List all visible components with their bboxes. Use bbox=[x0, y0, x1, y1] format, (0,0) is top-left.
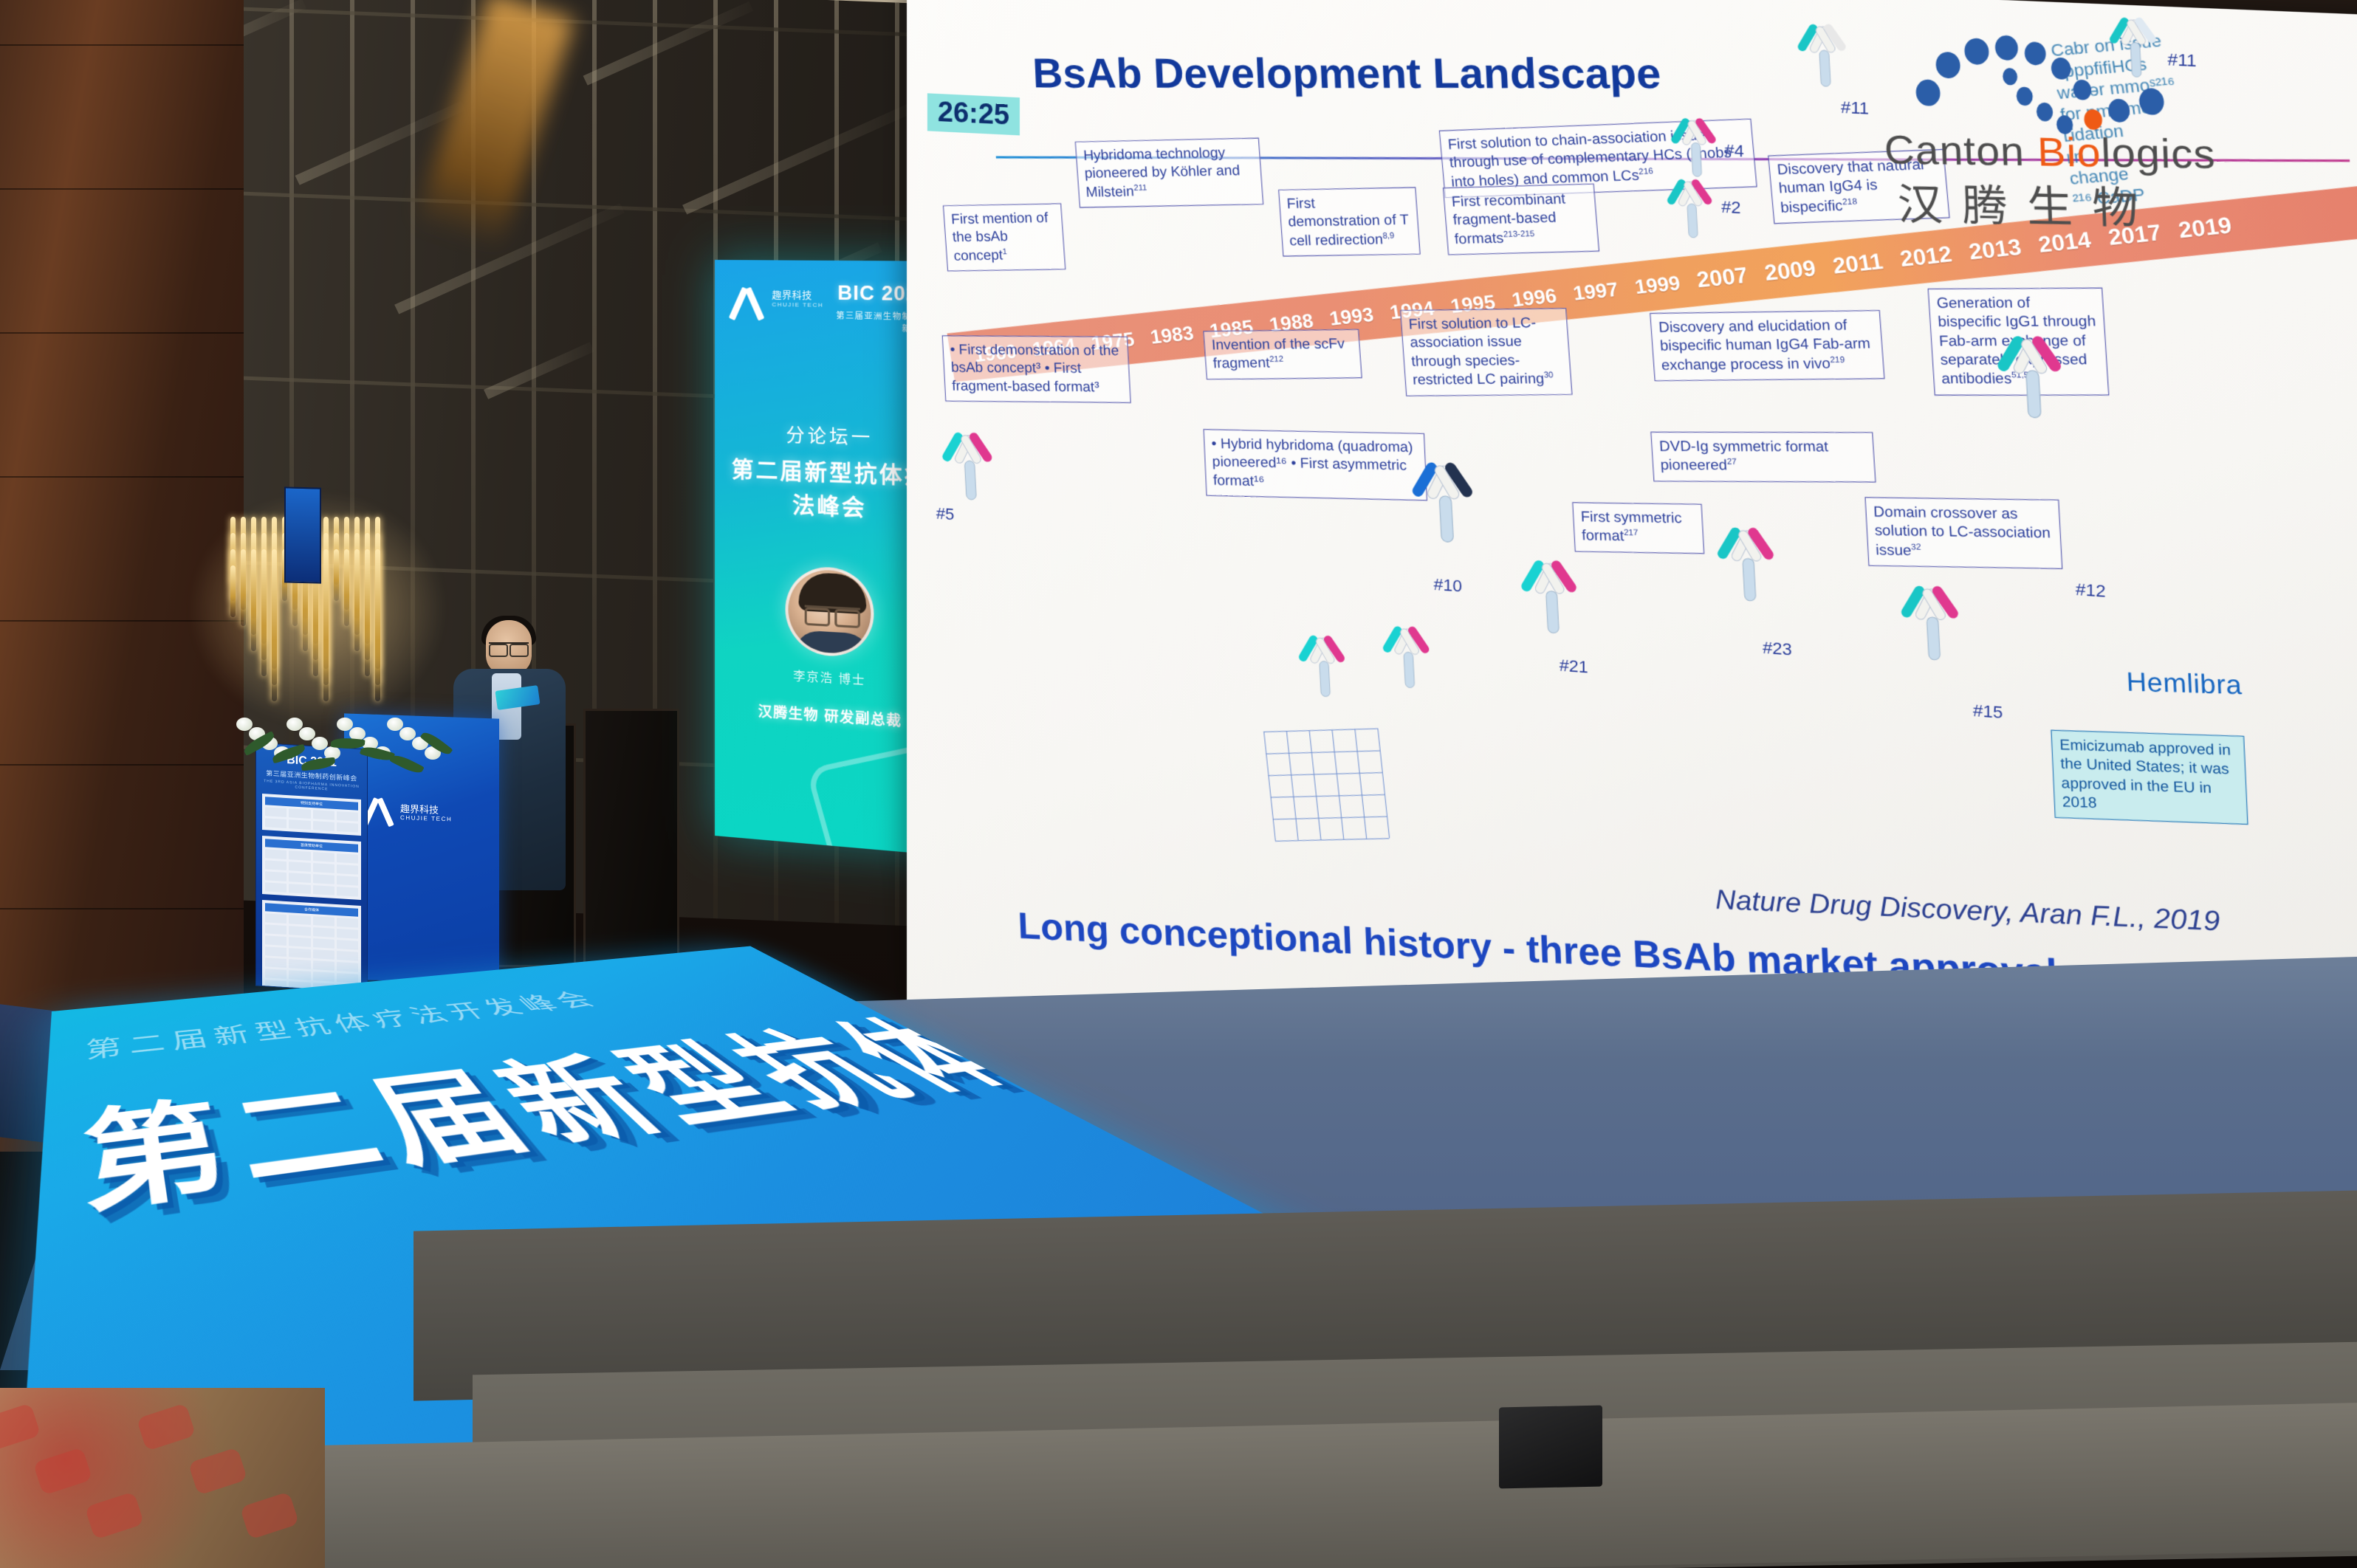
wall-panel-seam bbox=[0, 476, 244, 478]
chujie-logo-icon bbox=[731, 286, 765, 321]
floor-monitor-box bbox=[1499, 1406, 1602, 1489]
slide-box-emicizumab: Emicizumab approved in the United States… bbox=[2051, 730, 2248, 825]
slide-box-first-symmetric: First symmetric format217 bbox=[1572, 502, 1704, 554]
slide-box-first-mention: First mention of the bsAb concept1 bbox=[943, 203, 1066, 271]
chandelier-crystal bbox=[241, 549, 246, 626]
avatar-shirt bbox=[795, 630, 871, 659]
presenter-glasses-icon bbox=[489, 642, 529, 654]
hemlibra-label: Hemlibra bbox=[2126, 667, 2243, 701]
sponsor-logo bbox=[265, 957, 287, 968]
sponsor-logo bbox=[313, 885, 334, 895]
forum-line-1: 分论坛一 bbox=[731, 421, 931, 455]
sponsor-logo bbox=[289, 959, 310, 969]
antibody-label-10: #10 bbox=[1434, 575, 1462, 596]
signboard-logo-grid-3 bbox=[265, 913, 358, 992]
slide-box-fab-arm-discovery: Discovery and elucidation of bispecific … bbox=[1650, 310, 1884, 381]
banner-forum-title: 分论坛一 第二届新型抗体疗法峰会 bbox=[731, 421, 931, 528]
logo-dot-accent bbox=[2084, 109, 2102, 130]
slide-box-hybridoma: Hybridoma technology pioneered by Köhler… bbox=[1075, 138, 1263, 208]
wall-panel-seam bbox=[0, 44, 244, 46]
carpet-motif bbox=[0, 1403, 41, 1451]
sponsor-logo bbox=[289, 915, 310, 925]
banner-org-logo-text: 趣界科技 CHUJIE TECH bbox=[772, 290, 823, 309]
sponsor-logo bbox=[289, 884, 310, 894]
grid-line-vertical bbox=[1354, 729, 1367, 839]
chandelier-crystal bbox=[375, 549, 380, 701]
conference-stage-photo: 趣界科技 CHUJIE TECH BIC 2021 第三届亚洲生物制药创新峰会 … bbox=[0, 0, 2357, 1568]
timeline-year-2007: 2007 bbox=[1695, 263, 1750, 293]
canton-word: Canton bbox=[1884, 128, 2038, 175]
sponsor-logo bbox=[337, 822, 358, 833]
logo-dot bbox=[2016, 87, 2033, 106]
signboard-logo-grid-2 bbox=[265, 849, 358, 896]
sponsor-logo bbox=[313, 960, 334, 971]
wall-panel-seam bbox=[0, 188, 244, 190]
sponsor-logo bbox=[313, 821, 334, 831]
slide-citation: Nature Drug Discovery, Aran F.L., 2019 bbox=[1715, 883, 2220, 938]
background-door-right bbox=[583, 709, 679, 974]
sponsor-logo bbox=[313, 916, 334, 926]
sponsor-logo bbox=[337, 962, 358, 972]
chandelier-crystal bbox=[365, 549, 370, 676]
sponsor-logo bbox=[313, 852, 334, 862]
logo-dot bbox=[1964, 38, 1989, 65]
canton-logo-chinese: 汉腾生物 bbox=[1896, 170, 2159, 237]
sponsor-logo bbox=[313, 863, 334, 873]
signboard-sponsor-panel-3: 合作媒体 bbox=[262, 900, 361, 992]
antibody-label-11b: #11 bbox=[1841, 97, 1869, 119]
chandelier-crystal bbox=[230, 565, 236, 617]
chandelier-crystal bbox=[261, 549, 267, 676]
signboard-sponsor-panel-2: 首席赞助单位 bbox=[262, 836, 361, 900]
carpet-motif bbox=[33, 1447, 93, 1495]
side-display-screen bbox=[284, 486, 321, 583]
sponsor-logo bbox=[337, 940, 358, 950]
sponsor-logo bbox=[337, 951, 358, 961]
logo-dot bbox=[2051, 58, 2071, 80]
antibody-label-5: #5 bbox=[936, 504, 954, 525]
slide-box-bsab-demonstration: • First demonstration of the bsAb concep… bbox=[942, 335, 1131, 402]
slide-box-dvd-ig: DVD-Ig symmetric format pioneered27 bbox=[1650, 432, 1876, 483]
banner-speaker-name: 李京浩 博士 bbox=[731, 661, 931, 692]
sponsor-logo bbox=[337, 853, 358, 864]
grid-line-horizontal bbox=[1266, 750, 1379, 754]
timeline-year-2013: 2013 bbox=[1967, 235, 2023, 266]
sponsor-signboard: BIC 2021 第三届亚洲生物制药创新峰会 THE 3RD ASIA BIOP… bbox=[255, 742, 368, 992]
signboard-sponsor-panel-1: 特别支持单位 bbox=[262, 794, 361, 836]
timeline-year-1993: 1993 bbox=[1328, 303, 1375, 331]
sponsor-logo bbox=[313, 949, 334, 960]
sponsor-logo bbox=[313, 972, 334, 982]
sponsor-logo bbox=[289, 937, 310, 947]
sponsor-logo bbox=[289, 948, 310, 958]
speaker-avatar bbox=[785, 565, 874, 658]
banner-org-en: CHUJIE TECH bbox=[772, 301, 823, 309]
sponsor-logo bbox=[289, 862, 310, 872]
sponsor-logo bbox=[265, 818, 287, 828]
sponsor-logo bbox=[337, 887, 358, 897]
chandelier-crystal bbox=[251, 549, 256, 651]
sponsor-logo bbox=[337, 918, 358, 928]
banner-speaker-role: 汉腾生物 研发副总裁 bbox=[731, 698, 931, 732]
grid-line-vertical bbox=[1286, 731, 1299, 840]
logo-dot bbox=[2108, 99, 2130, 123]
antibody-label-21: #21 bbox=[1560, 656, 1588, 678]
timeline-year-2011: 2011 bbox=[1831, 249, 1885, 279]
grid-line-vertical bbox=[1309, 730, 1322, 839]
chandelier-crystal bbox=[323, 549, 329, 701]
antibody-label-23: #23 bbox=[1763, 638, 1792, 660]
sponsor-logo bbox=[337, 973, 358, 983]
slide-box-recombinant-fragment: First recombinant fragment-based formats… bbox=[1443, 184, 1599, 255]
banner-org-cn: 趣界科技 bbox=[772, 290, 823, 302]
sponsor-logo bbox=[265, 969, 287, 979]
grid-line-horizontal bbox=[1271, 794, 1385, 798]
signboard-logo-grid-1 bbox=[265, 807, 358, 832]
sponsor-logo bbox=[289, 873, 310, 883]
antibody-label-4: #4 bbox=[1724, 140, 1743, 161]
timeline-year-1999: 1999 bbox=[1633, 271, 1682, 299]
logo-dot bbox=[2056, 115, 2073, 134]
banner-header: 趣界科技 CHUJIE TECH BIC 2021 第三届亚洲生物制药创新峰会 bbox=[731, 281, 931, 334]
chujie-logo-icon-lectern bbox=[365, 797, 394, 827]
sponsor-logo bbox=[289, 808, 310, 819]
wall-panel-seam bbox=[0, 332, 244, 334]
slide-box-domain-crossover: Domain crossover as solution to LC-assoc… bbox=[1864, 497, 2062, 569]
chandelier-crystal bbox=[272, 549, 277, 701]
sponsor-logo bbox=[265, 871, 287, 881]
glass-reflection bbox=[583, 1, 754, 86]
flower-arrangement bbox=[233, 710, 455, 768]
sponsor-logo bbox=[265, 860, 287, 870]
sponsor-logo bbox=[313, 927, 334, 938]
sponsor-logo bbox=[313, 874, 334, 884]
chandelier-crystal bbox=[334, 549, 339, 601]
grid-line-horizontal bbox=[1263, 729, 1377, 732]
antibody-label-2: #2 bbox=[1721, 197, 1740, 218]
grid-line-vertical bbox=[1377, 729, 1390, 839]
sponsor-logo bbox=[337, 929, 358, 939]
sponsor-logo bbox=[313, 810, 334, 820]
timeline-year-2012: 2012 bbox=[1898, 241, 1954, 272]
lectern-logo-text: 趣界科技 CHUJIE TECH bbox=[400, 804, 452, 823]
sponsor-logo bbox=[265, 849, 287, 859]
logo-dot bbox=[1935, 52, 1960, 78]
grid-line-vertical bbox=[1263, 732, 1276, 841]
avatar-glasses-icon bbox=[805, 605, 860, 622]
lectern-logo-en: CHUJIE TECH bbox=[400, 815, 452, 823]
lectern-logo: 趣界科技 CHUJIE TECH bbox=[365, 797, 452, 829]
sponsor-logo bbox=[289, 926, 310, 936]
canton-biologics-logo: Canton Biologics 汉腾生物 bbox=[1879, 11, 2357, 213]
grid-line-horizontal bbox=[1268, 772, 1382, 776]
chandelier-crystal bbox=[344, 549, 349, 626]
logics-word: logics bbox=[2100, 131, 2216, 178]
logo-dot bbox=[2003, 68, 2018, 85]
ballroom-carpet bbox=[0, 1388, 325, 1568]
sponsor-logo bbox=[289, 819, 310, 830]
timeline-year-2019: 2019 bbox=[2177, 213, 2234, 244]
logo-dot bbox=[2037, 103, 2054, 122]
bio-word: Bio bbox=[2037, 130, 2102, 176]
slide-box-quadroma: • Hybrid hybridoma (quadroma) pioneered¹… bbox=[1204, 429, 1427, 501]
carpet-motif bbox=[240, 1491, 300, 1539]
logo-dot bbox=[1994, 35, 2018, 61]
sponsor-logo bbox=[337, 864, 358, 875]
grid-line-vertical bbox=[1332, 729, 1345, 839]
sponsor-logo bbox=[265, 935, 287, 946]
sponsor-logo bbox=[313, 938, 334, 949]
sponsor-logo bbox=[265, 924, 287, 935]
wall-panel-seam bbox=[0, 908, 244, 909]
logo-dot bbox=[2073, 80, 2091, 100]
logo-dot bbox=[2024, 42, 2046, 66]
banner-speaker-block: 李京浩 博士 汉腾生物 研发副总裁 bbox=[731, 661, 931, 732]
timeline-year-1983: 1983 bbox=[1148, 321, 1195, 348]
sponsor-logo bbox=[265, 882, 287, 893]
slide-box-t-cell-redirection: First demonstration of T cell redirectio… bbox=[1278, 187, 1421, 256]
antibody-label-15: #15 bbox=[1973, 701, 2003, 723]
sponsor-logo bbox=[265, 913, 287, 924]
forum-line-2: 第二届新型抗体疗法峰会 bbox=[731, 453, 931, 528]
sponsor-logo bbox=[289, 970, 310, 980]
grid-line-horizontal bbox=[1275, 838, 1390, 842]
timeline-year-1997: 1997 bbox=[1571, 277, 1620, 305]
sponsor-logo bbox=[265, 946, 287, 957]
sponsor-logo bbox=[337, 876, 358, 886]
wall-panel-seam bbox=[0, 764, 244, 766]
sponsor-logo bbox=[265, 807, 287, 817]
sponsor-logo bbox=[337, 811, 358, 822]
presentation-timer: 26:25 bbox=[927, 93, 1020, 135]
sponsor-logo bbox=[289, 850, 310, 861]
carpet-motif bbox=[85, 1491, 145, 1539]
chandelier-crystal bbox=[354, 549, 360, 651]
slide-box-lc-species-restricted: First solution to LC-association issue t… bbox=[1400, 308, 1573, 396]
logo-dot bbox=[2138, 88, 2164, 114]
timeline-year-2009: 2009 bbox=[1763, 256, 1817, 286]
quadroma-grid-figure bbox=[1263, 728, 1404, 843]
antibody-label-12: #12 bbox=[2076, 580, 2106, 602]
slide-box-scfv-fragment: Invention of the scFv fragment212 bbox=[1203, 329, 1362, 380]
grid-line-horizontal bbox=[1273, 816, 1387, 820]
carpet-motif bbox=[137, 1403, 196, 1451]
carpet-motif bbox=[188, 1447, 248, 1495]
logo-dot bbox=[1915, 80, 1941, 106]
slide-title: BsAb Development Landscape bbox=[1032, 48, 1662, 97]
